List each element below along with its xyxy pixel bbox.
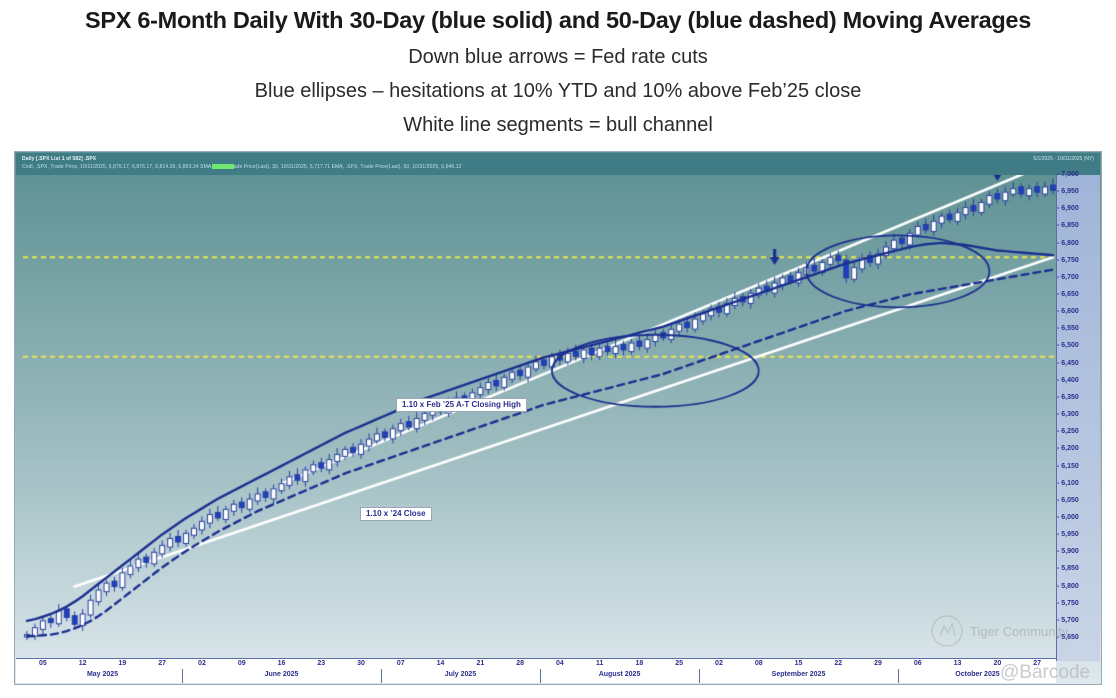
- date-tick-label: 19: [119, 660, 127, 667]
- month-label: July 2025: [445, 671, 477, 678]
- price-tick-label: - 6,650: [1057, 291, 1101, 298]
- date-tick-label: 30: [357, 660, 365, 667]
- price-tick-label: - 5,800: [1057, 583, 1101, 590]
- month-label: May 2025: [87, 671, 118, 678]
- date-tick-label: 18: [636, 660, 644, 667]
- month-label: August 2025: [599, 671, 641, 678]
- price-tick-label: - 6,250: [1057, 428, 1101, 435]
- subtitle-white-segments: White line segments = bull channel: [0, 103, 1116, 137]
- price-tick-label: - 6,400: [1057, 377, 1101, 384]
- date-tick-label: 16: [278, 660, 286, 667]
- price-tick-label: - 5,900: [1057, 548, 1101, 555]
- subtitle-fed-arrows: Down blue arrows = Fed rate cuts: [0, 34, 1116, 69]
- price-tick-label: - 5,950: [1057, 531, 1101, 538]
- price-tick-label: - 6,150: [1057, 463, 1101, 470]
- price-tick-label: - 6,350: [1057, 394, 1101, 401]
- date-tick-label: 14: [437, 660, 445, 667]
- price-tick-label: - 6,000: [1057, 514, 1101, 521]
- date-tick-label: 02: [715, 660, 723, 667]
- date-tick-label: 05: [39, 660, 47, 667]
- date-tick-label: 20: [993, 660, 1001, 667]
- chart-bottom-strip: [14, 685, 1102, 698]
- chart-frame[interactable]: Daily [.SPX List 1 of 582] .SPX Cndl, .S…: [14, 151, 1102, 685]
- annotation-feb25-closing-high: 1.10 x Feb ’25 A-T Closing High: [396, 398, 527, 412]
- price-tick-label: - 6,550: [1057, 325, 1101, 332]
- date-tick-label: 04: [556, 660, 564, 667]
- price-tick-label: - 6,850: [1057, 222, 1101, 229]
- price-tick-label: - 6,500: [1057, 342, 1101, 349]
- month-separator: [182, 669, 183, 683]
- date-tick-label: 27: [158, 660, 166, 667]
- price-chart-canvas[interactable]: [15, 152, 1101, 684]
- date-tick-label: 25: [675, 660, 683, 667]
- date-tick-label: 29: [874, 660, 882, 667]
- date-tick-label: 28: [516, 660, 524, 667]
- date-tick-label: 06: [914, 660, 922, 667]
- price-tick-label: - 6,050: [1057, 497, 1101, 504]
- price-tick-label: - 5,650: [1057, 634, 1101, 641]
- subtitle-blue-ellipses: Blue ellipses – hesitations at 10% YTD a…: [0, 69, 1116, 103]
- date-tick-label: 27: [1033, 660, 1041, 667]
- date-tick-label: 12: [79, 660, 87, 667]
- month-separator: [381, 669, 382, 683]
- month-label: October 2025: [955, 671, 999, 678]
- price-tick-label: - 6,950: [1057, 188, 1101, 195]
- date-tick-label: 22: [834, 660, 842, 667]
- date-tick-label: 15: [795, 660, 803, 667]
- month-separator: [699, 669, 700, 683]
- price-tick-label: - 6,700: [1057, 274, 1101, 281]
- price-tick-label: - 6,300: [1057, 411, 1101, 418]
- date-tick-label: 07: [397, 660, 405, 667]
- title-block: SPX 6-Month Daily With 30-Day (blue soli…: [0, 0, 1116, 150]
- price-axis[interactable]: - 7,000- 6,950- 6,900- 6,850- 6,800- 6,7…: [1056, 175, 1100, 661]
- month-separator: [898, 669, 899, 683]
- date-tick-label: 21: [476, 660, 484, 667]
- price-tick-label: - 5,750: [1057, 600, 1101, 607]
- price-tick-label: - 5,850: [1057, 565, 1101, 572]
- page-title: SPX 6-Month Daily With 30-Day (blue soli…: [0, 0, 1116, 34]
- date-tick-label: 23: [317, 660, 325, 667]
- date-tick-label: 08: [755, 660, 763, 667]
- month-separator: [540, 669, 541, 683]
- annotation-24-close: 1.10 x ’24 Close: [360, 507, 432, 521]
- date-tick-label: 02: [198, 660, 206, 667]
- price-tick-label: - 6,100: [1057, 480, 1101, 487]
- date-tick-label: 13: [954, 660, 962, 667]
- price-tick-label: - 6,900: [1057, 205, 1101, 212]
- price-tick-label: - 7,000: [1057, 171, 1101, 178]
- price-tick-label: - 6,800: [1057, 240, 1101, 247]
- price-tick-label: - 6,450: [1057, 360, 1101, 367]
- price-tick-label: - 6,750: [1057, 257, 1101, 264]
- date-tick-label: 11: [596, 660, 603, 667]
- price-tick-label: - 6,600: [1057, 308, 1101, 315]
- month-label: June 2025: [265, 671, 299, 678]
- date-tick-label: 09: [238, 660, 246, 667]
- price-tick-label: - 5,700: [1057, 617, 1101, 624]
- month-label: September 2025: [772, 671, 826, 678]
- date-axis[interactable]: 0512192702091623300714212804111825020815…: [16, 658, 1056, 683]
- price-tick-label: - 6,200: [1057, 445, 1101, 452]
